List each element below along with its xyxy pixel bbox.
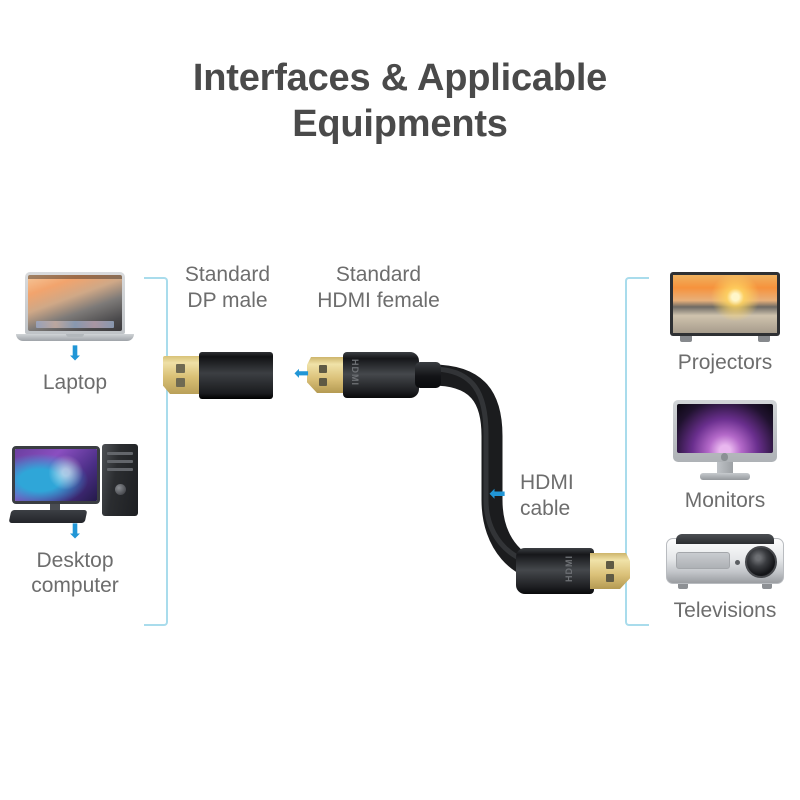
label-hdmi-female: Standard HDMI female (296, 262, 461, 314)
dp-gold-contacts (163, 356, 203, 394)
hdmi-pin (319, 365, 327, 373)
hdmi-pin (319, 378, 327, 386)
dp-connector-housing (199, 352, 273, 399)
hdmi-strain-relief (415, 362, 441, 388)
hdmi-cable-path (0, 0, 800, 800)
hdmi-brand-text: HDMI (564, 555, 574, 582)
arrow-left-icon-mid: ⬅ (294, 363, 309, 383)
arrow-left-icon-cable: ⬅ (489, 484, 506, 504)
product-assembly: HDMI HDMI ⬅ ⬅ Standard DP male Standard … (0, 0, 800, 800)
infographic-page: Interfaces & Applicable Equipments ⬇ Lap… (0, 0, 800, 800)
hdmi-pin (606, 574, 614, 582)
label-dp-male: Standard DP male (160, 262, 295, 314)
hdmi-brand-text: HDMI (350, 359, 360, 386)
label-hdmi-cable: HDMI cable (520, 470, 630, 522)
hdmi-plug-gold-contacts (590, 553, 630, 589)
hdmi-pin (606, 561, 614, 569)
dp-pin (176, 378, 185, 387)
dp-pin (176, 364, 185, 373)
hdmi-connector-housing: HDMI (343, 352, 419, 398)
hdmi-plug-housing: HDMI (516, 548, 594, 594)
hdmi-gold-contacts (307, 357, 347, 393)
